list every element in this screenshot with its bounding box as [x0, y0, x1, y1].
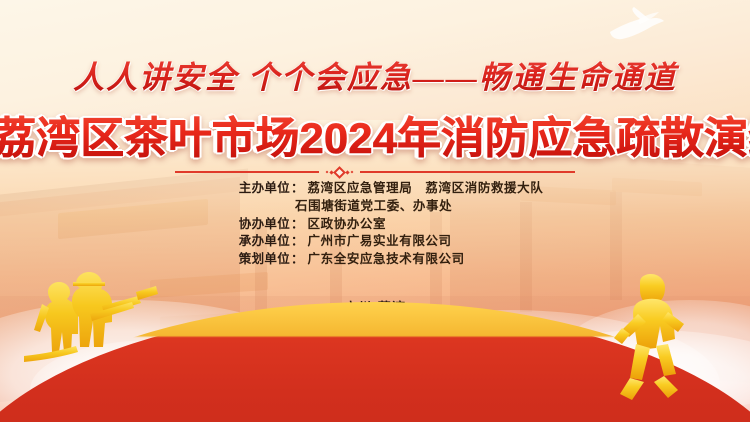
organizer-label: 承办单位 — [210, 233, 290, 251]
organizer-row: 策划单位 ： 广东全安应急技术有限公司 — [210, 251, 540, 269]
organizer-row: 承办单位 ： 广州市广易实业有限公司 — [210, 233, 540, 251]
organizer-row: 主办单位 ： 荔湾区应急管理局 荔湾区消防救援大队 — [210, 180, 540, 198]
running-person-silhouette-icon — [592, 274, 702, 404]
organizer-label — [210, 198, 290, 216]
firefighter-silhouette-icon — [18, 270, 158, 380]
divider — [175, 165, 575, 179]
organizer-colon: ： — [290, 180, 308, 198]
page-title: 荔湾区茶叶市场2024年消防应急疏散演练 — [0, 104, 750, 166]
organizer-label: 策划单位 — [210, 251, 290, 269]
organizer-value: 广州市广易实业有限公司 — [308, 233, 452, 251]
divider-line-left — [175, 171, 319, 173]
organizer-row: 石围塘街道党工委、办事处 — [210, 198, 540, 216]
slogan-text: 人人讲安全 个个会应急——畅通生命通道 — [0, 52, 750, 97]
organizer-label: 协办单位 — [210, 216, 290, 234]
organizer-value: 荔湾区应急管理局 荔湾区消防救援大队 — [308, 180, 544, 198]
organizer-colon: ： — [290, 216, 308, 234]
organizer-colon: ： — [290, 251, 308, 269]
organizer-value: 广东全安应急技术有限公司 — [308, 251, 465, 269]
organizer-colon: ： — [290, 233, 308, 251]
organizer-row: 协办单位 ： 区政协办公室 — [210, 216, 540, 234]
dove-icon — [604, 6, 666, 51]
organizer-value: 区政协办公室 — [308, 216, 387, 234]
organizer-list: 主办单位 ： 荔湾区应急管理局 荔湾区消防救援大队 石围塘街道党工委、办事处 协… — [0, 180, 750, 269]
organizer-value: 石围塘街道党工委、办事处 — [295, 198, 452, 216]
organizer-label: 主办单位 — [210, 180, 290, 198]
poster-canvas: 人人讲安全 个个会应急——畅通生命通道 荔湾区茶叶市场2024年消防应急疏散演练… — [0, 0, 750, 422]
divider-line-right — [360, 171, 575, 173]
diamond-ornament-icon — [326, 168, 353, 177]
